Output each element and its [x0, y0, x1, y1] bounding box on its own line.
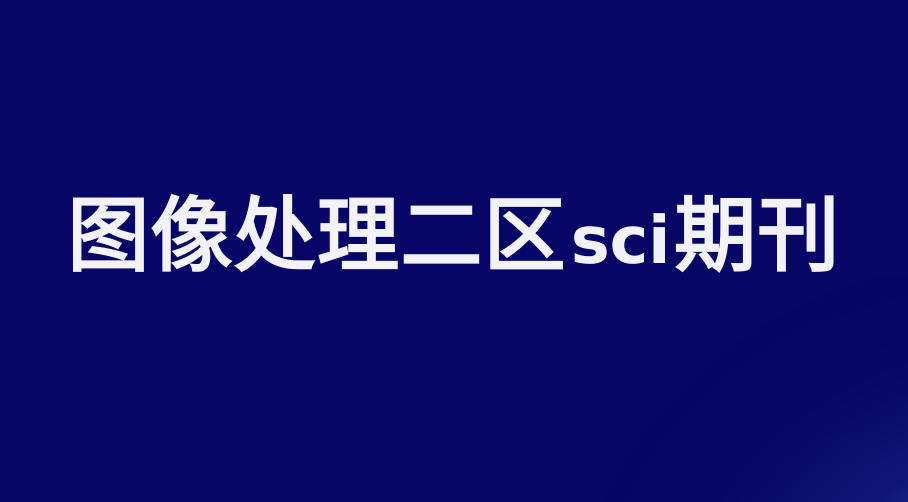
banner-canvas: 图像处理二区sci期刊 [0, 0, 908, 502]
headline-segment-latin: sci [567, 203, 674, 279]
banner-headline: 图像处理二区sci期刊 [67, 195, 840, 279]
headline-container: 图像处理二区sci期刊 [0, 195, 908, 279]
headline-segment-cjk-trail: 期刊 [674, 191, 840, 282]
corner-glow-decoration [608, 282, 908, 502]
headline-segment-cjk-lead: 图像处理二区 [67, 191, 566, 282]
